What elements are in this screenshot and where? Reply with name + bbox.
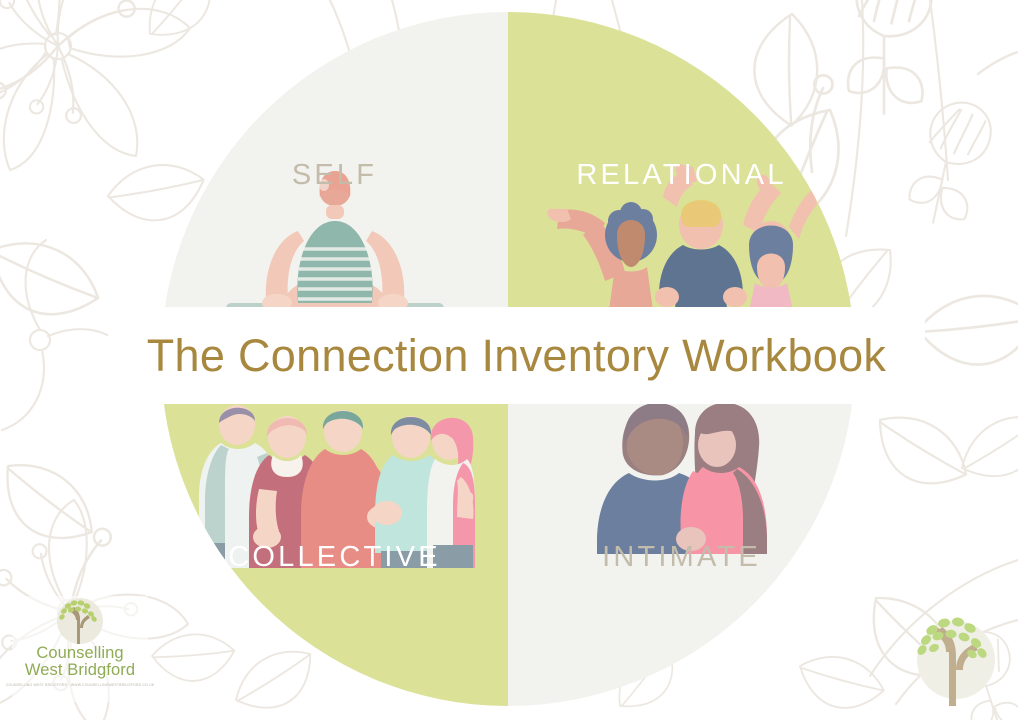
tree-icon xyxy=(52,598,108,644)
quadrant-label-self: SELF xyxy=(161,159,508,192)
couple-embracing-illustration xyxy=(587,389,777,554)
workbook-cover: SELF xyxy=(0,0,1018,720)
brand-name: Counselling West Bridgford xyxy=(25,645,135,679)
brand-tagline: COUNSELLING WEST BRIDGFORD · WWW.COUNSEL… xyxy=(6,683,154,688)
tree-icon xyxy=(904,608,1008,712)
quadrant-label-collective: COLLECTIVE xyxy=(161,541,508,574)
page-title: The Connection Inventory Workbook xyxy=(147,330,886,382)
quadrant-collective[interactable]: COLLECTIVE xyxy=(161,359,508,706)
quadrant-label-intimate: INTIMATE xyxy=(508,541,855,574)
brand-name-line1: Counselling xyxy=(36,644,123,662)
brand-logo[interactable]: Counselling West Bridgford COUNSELLING W… xyxy=(12,596,148,702)
title-band: The Connection Inventory Workbook xyxy=(108,307,925,404)
brand-name-line2: West Bridgford xyxy=(25,661,135,679)
quadrant-intimate[interactable]: INTIMATE xyxy=(508,359,855,706)
quadrant-label-relational: RELATIONAL xyxy=(508,159,855,192)
